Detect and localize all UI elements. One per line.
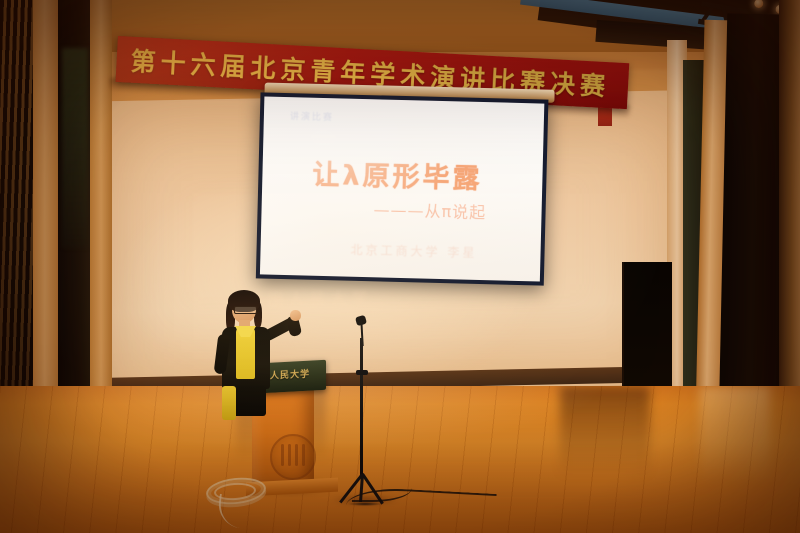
microphone-stand: [336, 316, 396, 498]
left-secondary-column: [90, 0, 112, 420]
stage-lamp-icon: [754, 0, 764, 9]
speaker-yellow-drape: [222, 386, 236, 420]
slide-author-line: 北京工商大学 李星: [350, 241, 477, 261]
stage-photo-scene: 第十六届北京青年学术演讲比赛决赛 讲演比赛 让λ原形毕露 ———从π说起 北京工…: [0, 0, 800, 533]
mic-pole: [360, 338, 363, 478]
screen-surface: 讲演比赛 让λ原形毕露 ———从π说起 北京工商大学 李星: [260, 96, 544, 281]
speaker-glasses-icon: [234, 306, 257, 314]
mic-height-clamp: [356, 370, 368, 375]
slide-subtitle: ———从π说起: [373, 196, 486, 223]
speaker-person: [206, 294, 316, 406]
left-recess-green-tint: [62, 48, 88, 248]
left-pillar: [33, 0, 59, 420]
renmin-university-emblem-icon: [270, 434, 316, 480]
projection-screen: 讲演比赛 让λ原形毕露 ———从π说起 北京工商大学 李星: [256, 92, 549, 295]
speaker-right-hand: [290, 310, 301, 321]
slide-corner-note: 讲演比赛: [290, 109, 334, 123]
right-dark-wall: [719, 13, 788, 424]
right-edge-wall-strip: [779, 0, 800, 420]
screen-frame: 讲演比赛 让λ原形毕露 ———从π说起 北京工商大学 李星: [256, 92, 549, 285]
left-slatted-wall-shading: [0, 0, 36, 400]
slide-title: 让λ原形毕露: [312, 153, 483, 196]
